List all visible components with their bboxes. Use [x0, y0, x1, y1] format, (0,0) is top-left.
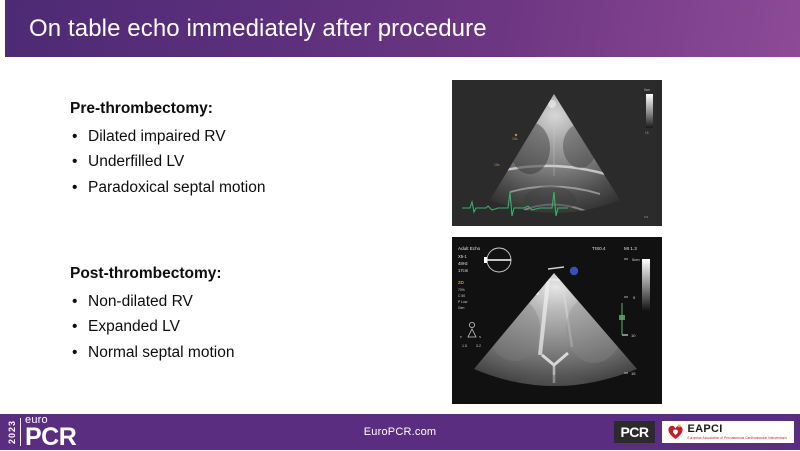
- list-item: • Dilated impaired RV: [70, 124, 400, 149]
- svg-text:2D: 2D: [458, 280, 465, 285]
- svg-text:S: S: [479, 335, 481, 339]
- block-heading: Post-thrombectomy:: [70, 264, 400, 283]
- bullet-dot-icon: •: [72, 124, 77, 149]
- list-item-label: Paradoxical septal motion: [88, 179, 266, 196]
- content-block-post-thrombectomy: Post-thrombectomy: • Non-dilated RV • Ex…: [70, 264, 400, 365]
- svg-text:0cm: 0cm: [632, 257, 640, 262]
- eapci-subtitle-label: European Association of Percutaneous Car…: [688, 437, 787, 440]
- list-item-label: Non-dilated RV: [88, 293, 193, 310]
- svg-text:15s: 15s: [494, 163, 500, 167]
- eapci-name-label: EAPCI: [688, 424, 787, 435]
- content-block-pre-thrombectomy: Pre-thrombectomy: • Dilated impaired RV …: [70, 99, 400, 200]
- echocardiogram-image-post-thrombectomy: Adult Echo X5-1 48Hz 17cm 2D 70% C 50 P …: [452, 237, 662, 404]
- block-heading: Pre-thrombectomy:: [70, 99, 400, 118]
- bullet-dot-icon: •: [72, 175, 77, 200]
- echo-sector-graphic: 0cm 15 15s 15s M3: [452, 80, 662, 226]
- svg-text:15: 15: [645, 131, 649, 135]
- list-item: • Non-dilated RV: [70, 289, 400, 314]
- list-item-label: Normal septal motion: [88, 344, 234, 361]
- svg-text:48Hz: 48Hz: [458, 261, 468, 266]
- svg-text:10: 10: [631, 333, 636, 338]
- heart-icon: [667, 424, 684, 440]
- svg-text:TIS0.4: TIS0.4: [592, 246, 606, 251]
- bullet-dot-icon: •: [72, 149, 77, 174]
- svg-text:X5-1: X5-1: [458, 254, 468, 259]
- eapci-text-group: EAPCI European Association of Percutaneo…: [688, 424, 787, 440]
- svg-text:70%: 70%: [458, 288, 465, 292]
- echocardiogram-image-pre-thrombectomy: 0cm 15 15s 15s M3: [452, 80, 662, 226]
- slide-title-bar: On table echo immediately after procedur…: [5, 0, 800, 57]
- list-item-label: Underfilled LV: [88, 153, 184, 170]
- slide-footer: 2023 euro PCR EuroPCR.com PCR EAPCI Euro…: [0, 414, 800, 450]
- list-item-label: Dilated impaired RV: [88, 128, 226, 145]
- svg-text:C 50: C 50: [458, 294, 465, 298]
- bullet-dot-icon: •: [72, 314, 77, 339]
- svg-text:P Low: P Low: [458, 300, 468, 304]
- list-item: • Paradoxical septal motion: [70, 175, 400, 200]
- color-doppler-marker: [570, 267, 578, 275]
- eapci-badge-logo: EAPCI European Association of Percutaneo…: [662, 421, 794, 443]
- svg-text:17cm: 17cm: [458, 268, 469, 273]
- svg-text:Gen: Gen: [458, 306, 465, 310]
- svg-text:15: 15: [631, 371, 636, 376]
- list-item: • Underfilled LV: [70, 149, 400, 174]
- list-item: • Normal septal motion: [70, 340, 400, 365]
- pcr-badge-logo: PCR: [614, 421, 654, 443]
- list-item-label: Expanded LV: [88, 318, 180, 335]
- svg-text:15s: 15s: [512, 137, 518, 141]
- svg-text:P: P: [460, 335, 462, 339]
- bullet-list: • Non-dilated RV • Expanded LV • Normal …: [70, 289, 400, 364]
- svg-text:3.2: 3.2: [476, 344, 481, 348]
- bullet-dot-icon: •: [72, 340, 77, 365]
- footer-partner-logos: PCR EAPCI European Association of Percut…: [614, 414, 794, 450]
- echo-sector-graphic: Adult Echo X5-1 48Hz 17cm 2D 70% C 50 P …: [452, 237, 662, 404]
- svg-text:MI 1.3: MI 1.3: [624, 246, 637, 251]
- list-item: • Expanded LV: [70, 314, 400, 339]
- svg-text:Adult Echo: Adult Echo: [458, 246, 481, 251]
- svg-text:M3: M3: [644, 215, 648, 219]
- bullet-dot-icon: •: [72, 289, 77, 314]
- bullet-list: • Dilated impaired RV • Underfilled LV •…: [70, 124, 400, 199]
- page-title: On table echo immediately after procedur…: [29, 15, 487, 43]
- svg-text:1.5: 1.5: [462, 344, 467, 348]
- svg-text:0cm: 0cm: [644, 88, 650, 92]
